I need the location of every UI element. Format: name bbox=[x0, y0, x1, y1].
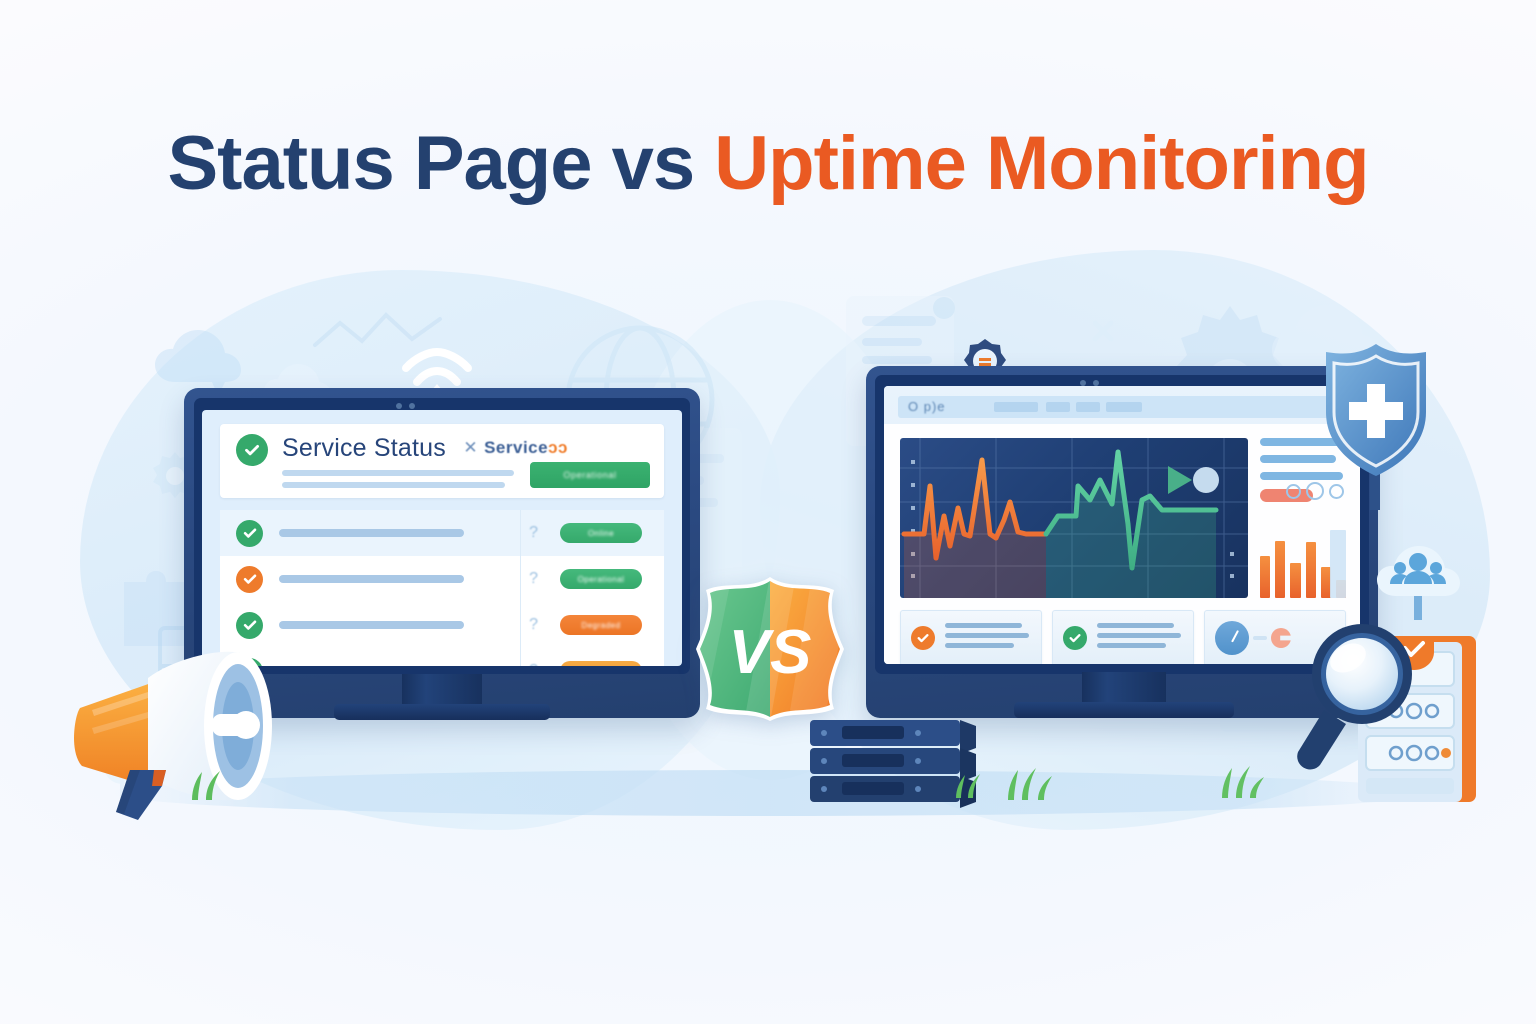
row-label-placeholder bbox=[279, 575, 464, 583]
row-status-label: Operational bbox=[560, 569, 642, 589]
status-page-header: Service Status ✕Serviceɔɔ Operational bbox=[220, 424, 664, 498]
webcam-dots bbox=[396, 403, 415, 409]
grass-decoration bbox=[952, 772, 992, 798]
page-title-part-two: Uptime Monitoring bbox=[714, 121, 1368, 206]
vs-badge: VS bbox=[684, 575, 856, 723]
status-badge-label: Operational bbox=[530, 462, 650, 488]
monitor-base bbox=[334, 704, 550, 720]
topbar-label: O p)e bbox=[908, 399, 946, 414]
status-page-title: Service Status bbox=[282, 434, 446, 463]
page-title-part-one: Status Page vs bbox=[167, 121, 714, 206]
row-status-pill[interactable]: Operational bbox=[560, 569, 642, 589]
check-circle-icon bbox=[911, 626, 935, 650]
logo-suffix-glyph: ɔɔ bbox=[548, 438, 568, 457]
check-circle-icon bbox=[1063, 626, 1087, 650]
page-title: Status Page vs Uptime Monitoring bbox=[0, 120, 1536, 207]
grass-decoration bbox=[1216, 764, 1270, 798]
status-card[interactable] bbox=[1052, 610, 1194, 664]
bar bbox=[1260, 556, 1270, 598]
check-circle-icon bbox=[236, 566, 263, 593]
users-cloud-icon bbox=[1372, 528, 1464, 620]
row-value: ? bbox=[529, 616, 538, 634]
row-status-label: Online bbox=[560, 523, 642, 543]
row-status-label: Degraded bbox=[560, 615, 642, 635]
service-logo: ✕Serviceɔɔ bbox=[463, 438, 568, 458]
row-value: ? bbox=[529, 524, 538, 542]
status-card-lines bbox=[1097, 623, 1183, 653]
row-value: ? bbox=[529, 662, 538, 666]
logo-prefix-glyph: ✕ bbox=[463, 438, 478, 457]
row-status-pill[interactable]: Degraded bbox=[560, 615, 642, 635]
check-circle-icon bbox=[236, 612, 263, 639]
row-value: ? bbox=[529, 570, 538, 588]
grass-decoration bbox=[186, 768, 242, 800]
monitor-base bbox=[1014, 702, 1234, 718]
ring-icon bbox=[1286, 484, 1301, 499]
response-time-chart-svg bbox=[900, 438, 1248, 598]
grass-decoration bbox=[1000, 766, 1060, 800]
row-status-label bbox=[560, 661, 642, 666]
row-status-pill[interactable] bbox=[560, 661, 642, 666]
check-circle-icon bbox=[236, 520, 263, 547]
gauge-icon bbox=[1215, 621, 1249, 655]
close-glyph-icon bbox=[1090, 318, 1116, 344]
status-page-screen: Service Status ✕Serviceɔɔ Operational bbox=[202, 410, 682, 666]
connector-bar bbox=[1253, 636, 1267, 640]
dashboard-topbar: O p)e bbox=[898, 396, 1346, 418]
row-label-placeholder bbox=[279, 529, 464, 537]
header-placeholder-lines bbox=[282, 470, 514, 494]
logo-text: Service bbox=[484, 438, 548, 457]
shield-health-icon bbox=[1322, 340, 1430, 510]
status-page-content: Service Status ✕Serviceɔɔ Operational bbox=[202, 410, 682, 666]
vs-badge-label: VS bbox=[729, 618, 812, 687]
illustration-canvas: Status Page vs Uptime Monitoring bbox=[0, 0, 1536, 1024]
row-status-pill[interactable]: Online bbox=[560, 523, 642, 543]
table-row[interactable]: ? Online bbox=[220, 510, 664, 556]
bar bbox=[1290, 563, 1300, 598]
bar-ghost bbox=[1330, 530, 1346, 598]
magnifying-glass-icon bbox=[1280, 612, 1430, 772]
bar bbox=[1275, 541, 1285, 598]
response-time-chart bbox=[900, 438, 1248, 598]
status-card[interactable] bbox=[900, 610, 1042, 664]
row-label-placeholder bbox=[279, 621, 464, 629]
table-row[interactable]: ? Operational bbox=[220, 556, 664, 602]
uptime-bar-chart bbox=[1260, 528, 1346, 598]
status-card-lines bbox=[945, 623, 1031, 653]
status-badge[interactable]: Operational bbox=[530, 462, 650, 488]
monitor-neck bbox=[402, 674, 482, 708]
check-circle-icon bbox=[236, 434, 268, 466]
monitor-neck bbox=[1082, 672, 1166, 706]
bar bbox=[1306, 542, 1316, 598]
